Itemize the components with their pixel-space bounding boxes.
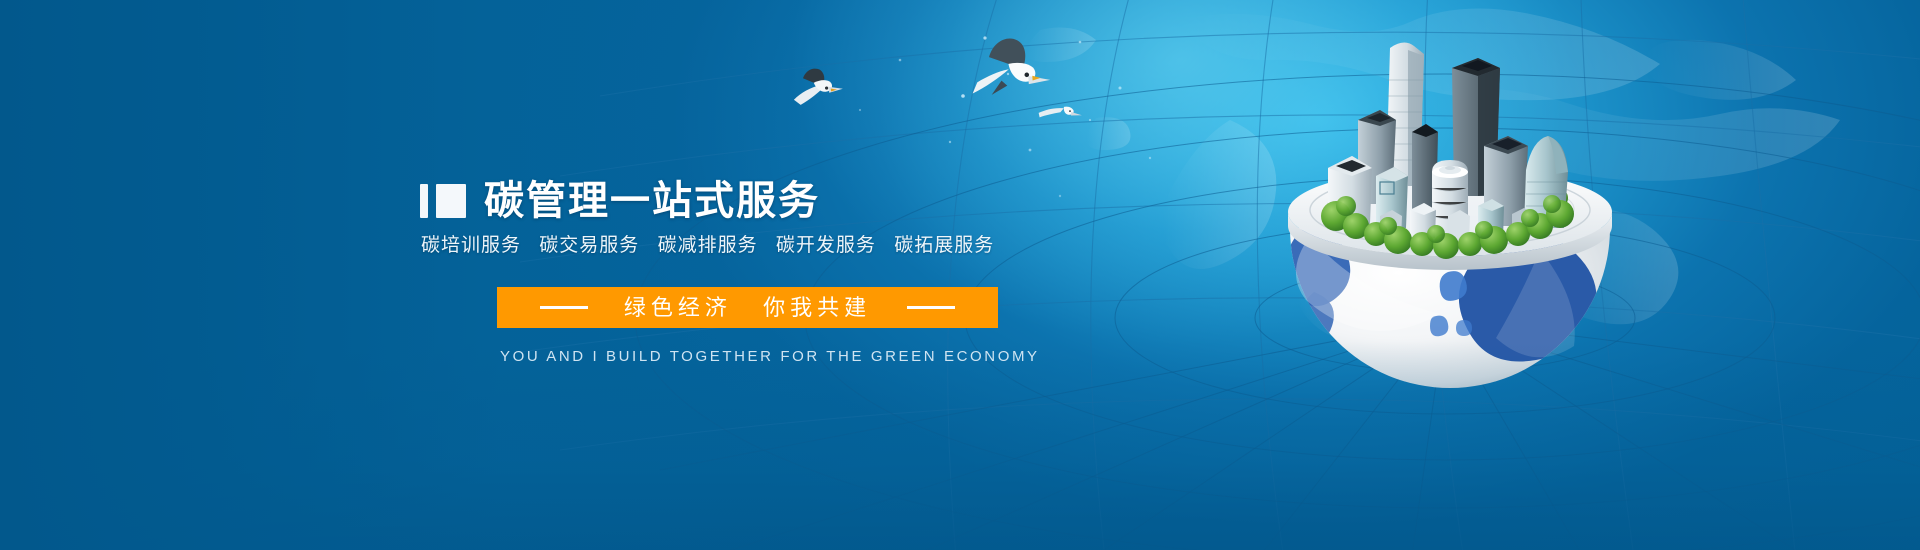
service-item-0: 碳培训服务 [421,235,521,256]
headline-row: 碳管理一站式服务 [420,178,1040,224]
bar-square-mark-icon [420,184,466,218]
slogan-text-left: 绿色经济 [614,295,742,320]
hero-content: 碳管理一站式服务 碳培训服务 碳交易服务 碳减排服务 碳开发服务 碳拓展服务 绿… [420,178,1040,258]
service-item-3: 碳开发服务 [776,235,876,256]
service-list: 碳培训服务 碳交易服务 碳减排服务 碳开发服务 碳拓展服务 [421,234,1040,258]
hero-banner: 碳管理一站式服务 碳培训服务 碳交易服务 碳减排服务 碳开发服务 碳拓展服务 绿… [0,0,1920,550]
slogan-dash-right-icon [907,306,955,309]
tagline-english: YOU AND I BUILD TOGETHER FOR THE GREEN E… [500,348,1040,366]
service-item-4: 碳拓展服务 [894,235,994,256]
service-item-1: 碳交易服务 [539,235,639,256]
slogan-text: 绿色经济 你我共建 [614,296,881,320]
slogan-banner: 绿色经济 你我共建 [497,287,998,328]
slogan-dash-left-icon [540,306,588,309]
mark-square-icon [436,184,466,218]
slogan-text-right: 你我共建 [753,295,881,320]
mark-bar-icon [420,184,428,218]
service-item-2: 碳减排服务 [658,235,758,256]
background-vignette [0,0,1920,550]
page-title: 碳管理一站式服务 [484,179,820,223]
